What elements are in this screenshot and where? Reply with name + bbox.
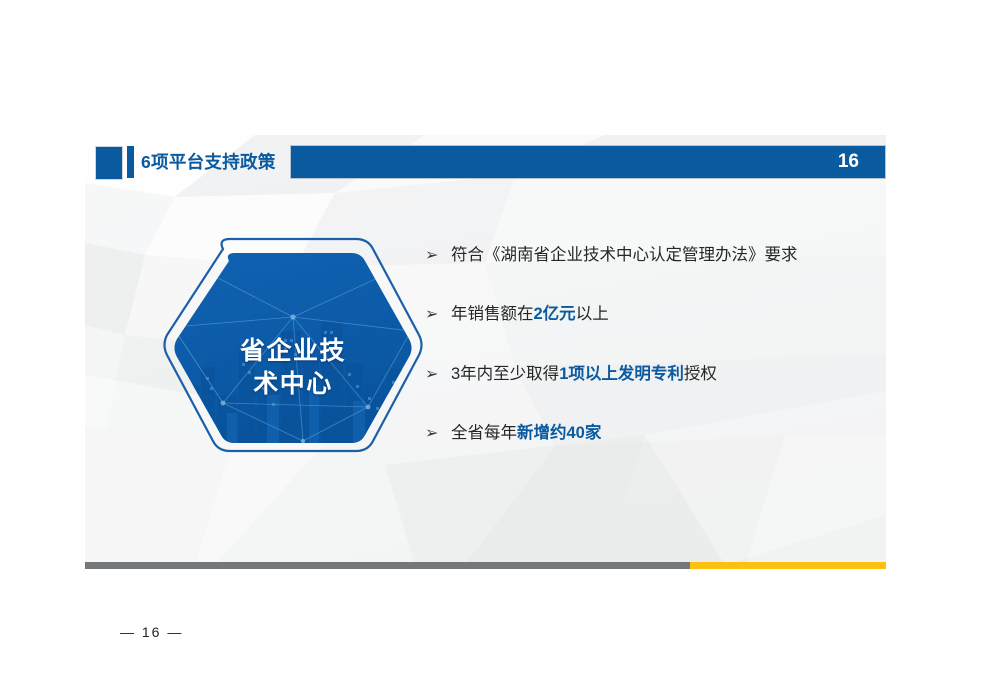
bullet-highlight: 2亿元	[534, 305, 576, 323]
bullet-arrow-icon: ➢	[425, 245, 451, 265]
bullet-item: ➢全省每年新增约40家	[425, 423, 865, 444]
header-tick-accent	[127, 146, 134, 178]
bullet-plain: 符合《湖南省企业技术中心认定管理办法》要求	[451, 246, 798, 264]
bottom-rule	[85, 562, 886, 569]
bullet-plain: 年销售额在	[451, 305, 534, 323]
header-square-accent	[95, 146, 123, 180]
page-canvas: 省企业技 术中心 ➢符合《湖南省企业技术中心认定管理办法》要求➢年销售额在2亿元…	[0, 0, 982, 695]
bullet-text: 3年内至少取得1项以上发明专利授权	[451, 364, 865, 385]
bottom-rule-yellow-segment	[690, 562, 886, 569]
bullet-plain: 授权	[684, 365, 717, 383]
footer-page-marker: — 16 —	[120, 624, 183, 640]
bullet-list: ➢符合《湖南省企业技术中心认定管理办法》要求➢年销售额在2亿元以上➢3年内至少取…	[425, 245, 865, 445]
bullet-item: ➢年销售额在2亿元以上	[425, 304, 865, 325]
page-title: 6项平台支持政策	[141, 146, 276, 178]
bullet-item: ➢符合《湖南省企业技术中心认定管理办法》要求	[425, 245, 865, 266]
bullet-plain: 全省每年	[451, 424, 517, 442]
bullet-highlight: 1项以上发明专利	[559, 365, 684, 383]
bullet-arrow-icon: ➢	[425, 423, 451, 443]
bullet-highlight: 新增约40家	[517, 424, 601, 442]
bullet-text: 符合《湖南省企业技术中心认定管理办法》要求	[451, 245, 865, 266]
bullet-plain: 3年内至少取得	[451, 365, 559, 383]
hexagon-shape	[163, 235, 423, 478]
bullet-text: 年销售额在2亿元以上	[451, 304, 865, 325]
header-blue-bar	[290, 145, 886, 179]
bullet-item: ➢3年内至少取得1项以上发明专利授权	[425, 364, 865, 385]
bottom-rule-gray-segment	[85, 562, 690, 569]
bullet-text: 全省每年新增约40家	[451, 423, 865, 444]
slide-header: 6项平台支持政策 16	[85, 143, 886, 182]
bullet-plain: 以上	[576, 305, 609, 323]
bullet-arrow-icon: ➢	[425, 364, 451, 384]
header-page-number: 16	[838, 145, 859, 179]
bullet-arrow-icon: ➢	[425, 304, 451, 324]
slide-body: 省企业技 术中心 ➢符合《湖南省企业技术中心认定管理办法》要求➢年销售额在2亿元…	[85, 135, 886, 565]
hexagon-badge: 省企业技 术中心	[163, 235, 423, 478]
